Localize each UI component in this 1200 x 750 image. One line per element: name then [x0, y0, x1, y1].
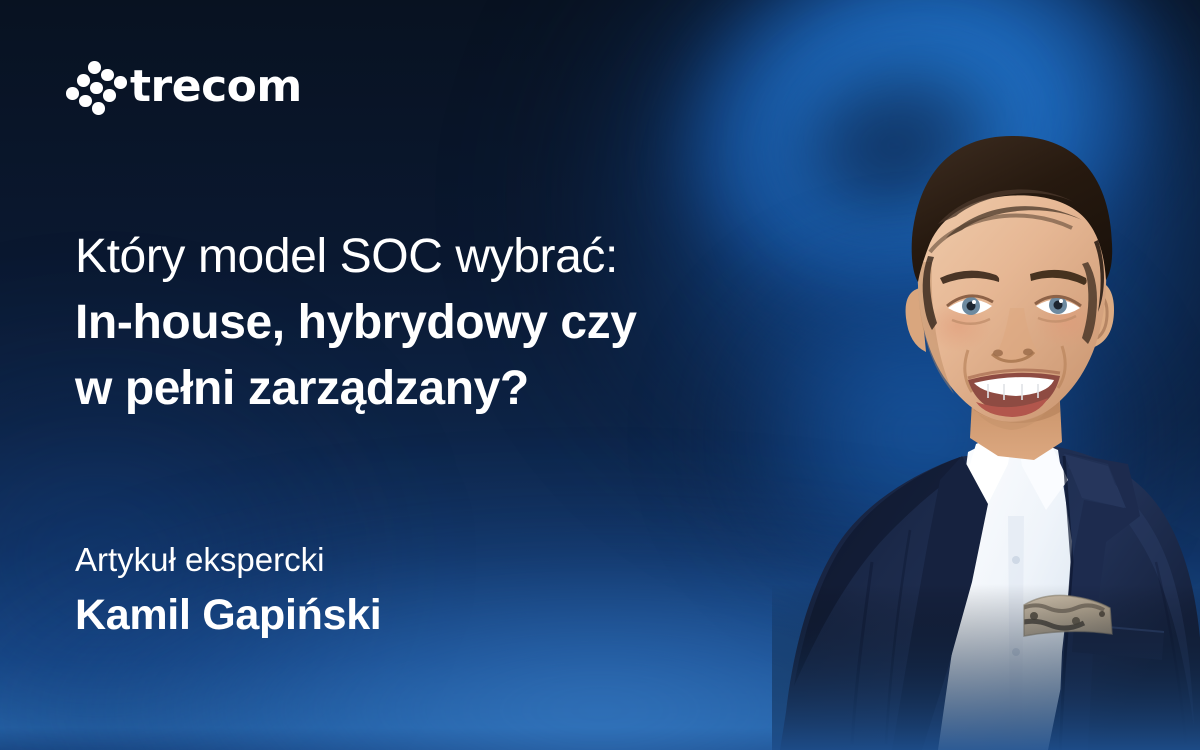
pocket-square-icon [1012, 590, 1132, 640]
headline-line-1: Który model SOC wybrać: [75, 224, 835, 290]
portrait-torso [780, 428, 1200, 750]
author-role: Artykuł ekspercki [75, 536, 381, 584]
author-block: Artykuł ekspercki Kamil Gapiński [75, 536, 381, 644]
author-name: Kamil Gapiński [75, 586, 381, 644]
portrait-face [912, 136, 1113, 430]
headline-line-2: In-house, hybrydowy czy [75, 290, 835, 356]
portrait-smile [968, 370, 1060, 417]
background-desk-edge [780, 703, 1200, 706]
page-title: Który model SOC wybrać: In-house, hybryd… [75, 224, 835, 422]
article-banner: trecom Który model SOC wybrać: In-house,… [0, 0, 1200, 750]
trecom-dots-icon [66, 61, 116, 113]
portrait-eyes [947, 296, 1081, 324]
headline-line-3: w pełni zarządzany? [75, 356, 835, 422]
trecom-wordmark: trecom [130, 65, 302, 109]
trecom-logo[interactable]: trecom [66, 61, 302, 113]
portrait-photo [772, 112, 1200, 750]
